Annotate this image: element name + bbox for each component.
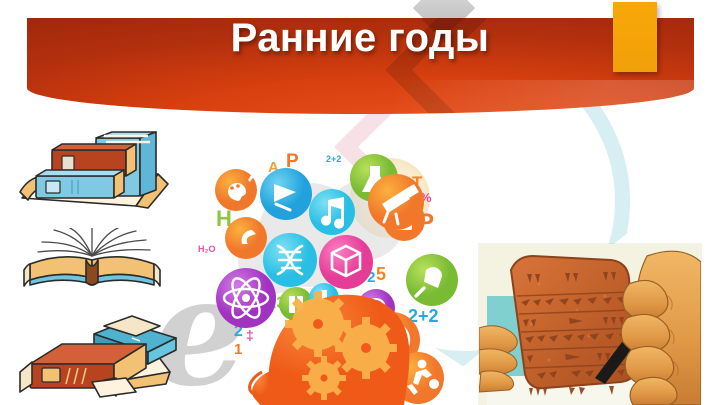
image-book-open: [8, 228, 178, 290]
svg-text:‡: ‡: [246, 327, 254, 343]
page-title: Ранние годы: [0, 16, 720, 61]
presentation-slide: e Ранние годы: [0, 0, 720, 405]
image-books-stack: [8, 128, 178, 218]
image-cuneiform-tablet: [479, 244, 701, 405]
svg-text:1: 1: [234, 341, 242, 358]
image-brain-ideas: А Р Е З Т % Р H 2+2 2+2 5 √123 2 ‡ 1 H₂O…: [190, 140, 458, 405]
accent-rectangle: [613, 2, 657, 72]
svg-text:5: 5: [376, 264, 386, 284]
image-book-closed: [8, 300, 183, 398]
svg-text:2+2: 2+2: [326, 154, 341, 164]
svg-text:H₂O: H₂O: [198, 244, 216, 254]
